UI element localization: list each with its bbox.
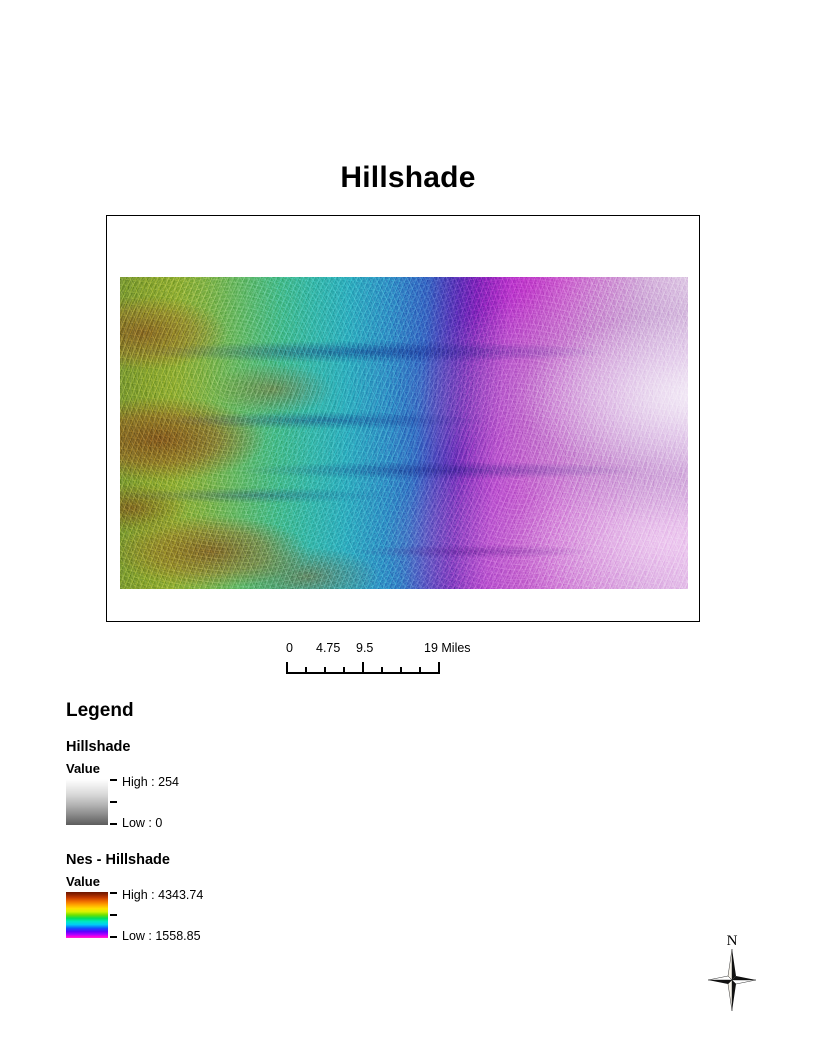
- scale-tick-major-4: [362, 662, 364, 673]
- scale-label-1: 4.75: [316, 641, 340, 655]
- scale-tick-minor-5: [381, 667, 383, 673]
- scale-tick-minor-6: [400, 667, 402, 673]
- legend-heading: Legend: [66, 700, 366, 722]
- raster-hillshade-speckle: [120, 277, 688, 589]
- map-frame[interactable]: [106, 215, 700, 622]
- scale-tick-major-8: [438, 662, 440, 673]
- color-ramp-rainbow: [66, 892, 108, 938]
- ramp-tick-low: [110, 823, 117, 825]
- ramp-label-high: High : 4343.74: [122, 888, 203, 902]
- ramp-tick-mid: [110, 801, 117, 803]
- legend-layer-nes-hillshade[interactable]: Nes - Hillshade Value High : 4343.74 Low…: [66, 851, 366, 942]
- legend-layer-field: Value: [66, 761, 366, 777]
- scale-bar-graphic: [286, 662, 446, 676]
- color-ramp-grayscale: [66, 779, 108, 825]
- scale-tick-minor-1: [305, 667, 307, 673]
- ramp-tick-high: [110, 892, 117, 894]
- ramp-tick-low: [110, 936, 117, 938]
- color-ramp-ticks: [108, 892, 118, 938]
- ramp-tick-high: [110, 779, 117, 781]
- legend-layer-hillshade[interactable]: Hillshade Value High : 254 Low : 0: [66, 738, 366, 829]
- legend-layer-name: Nes - Hillshade: [66, 851, 366, 869]
- scale-label-3: 19 Miles: [424, 641, 471, 655]
- compass-rose-icon: [708, 949, 756, 1011]
- ramp-label-low: Low : 1558.85: [122, 929, 201, 943]
- color-ramp-ticks: [108, 779, 118, 825]
- scale-tick-minor-2: [324, 667, 326, 673]
- north-arrow-label: N: [703, 933, 761, 949]
- legend-layer-field: Value: [66, 874, 366, 890]
- scale-label-2: 9.5: [356, 641, 373, 655]
- north-arrow[interactable]: N: [703, 933, 761, 1013]
- ramp-label-high: High : 254: [122, 775, 179, 789]
- ramp-tick-mid: [110, 914, 117, 916]
- scale-tick-minor-3: [343, 667, 345, 673]
- hillshade-raster[interactable]: [120, 277, 688, 589]
- scale-tick-major-0: [286, 662, 288, 673]
- scale-tick-minor-7: [419, 667, 421, 673]
- ramp-label-low: Low : 0: [122, 816, 162, 830]
- legend: Legend Hillshade Value High : 254 Low : …: [66, 700, 366, 942]
- scale-label-0: 0: [286, 641, 293, 655]
- legend-layer-name: Hillshade: [66, 738, 366, 756]
- page-title: Hillshade: [0, 162, 816, 194]
- scale-bar-labels: 0 4.75 9.5 19 Miles: [286, 641, 446, 659]
- scale-bar: 0 4.75 9.5 19 Miles: [286, 641, 446, 676]
